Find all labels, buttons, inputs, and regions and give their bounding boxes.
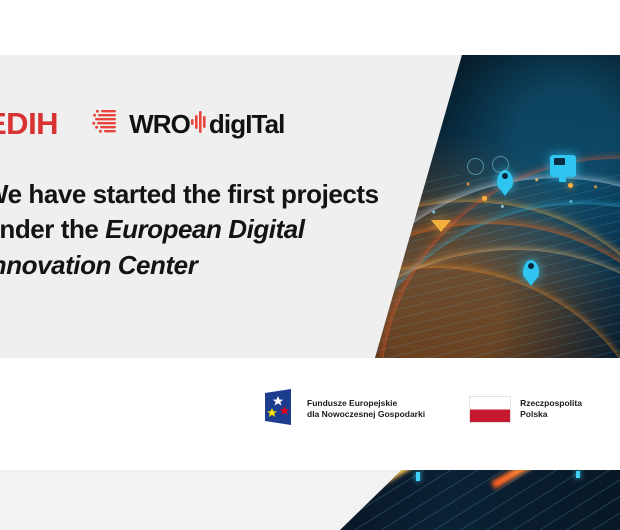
headline-line-2-emphasis: European (105, 214, 221, 244)
edih-wordmark: EDIH (0, 108, 58, 139)
audio-equalizer-icon (191, 110, 208, 138)
article-hero-image[interactable] (375, 55, 620, 358)
map-pin-icon (523, 260, 539, 281)
funding-label-line-1: Fundusze Europejskie (307, 398, 425, 409)
funding-label-eu-funds: Fundusze Europejskie dla Nowoczesnej Gos… (307, 398, 425, 420)
brand-row: EDIH (0, 106, 284, 141)
wro-word-part-1: WRO (129, 111, 190, 137)
map-pin-icon (497, 170, 513, 191)
ring-icon (492, 156, 509, 173)
ring-icon (467, 158, 484, 175)
funding-logo-row: Fundusze Europejskie dla Nowoczesnej Gos… (258, 385, 620, 433)
article-card-body: EDIH (0, 55, 400, 358)
funding-label-line-2: dla Nowoczesnej Gospodarki (307, 409, 425, 420)
funding-item-eu: Dofinansowane przez Unię Europejską (604, 398, 620, 420)
spark-icon (568, 183, 573, 188)
warning-triangle-icon (431, 220, 451, 232)
eu-funds-logo (258, 387, 298, 432)
wro-digital-wordmark: WRO digITal (129, 110, 284, 138)
next-article-hero-image[interactable] (340, 470, 620, 530)
spark-icon (482, 196, 487, 201)
wro-bars-icon (92, 106, 122, 141)
article-card[interactable]: EDIH (0, 55, 620, 358)
next-data-streaks (340, 470, 620, 530)
poland-flag-icon (469, 396, 511, 423)
funding-label-line-1: Rzeczpospolita (520, 398, 582, 409)
wro-word-part-2: digITal (209, 111, 285, 137)
hero-icon-overlay (375, 55, 620, 358)
chip-device-icon (550, 155, 576, 177)
funding-label-line-2: Polska (520, 409, 582, 420)
funding-item-poland: Rzeczpospolita Polska (447, 396, 604, 423)
article-headline[interactable]: We have started the first projects under… (0, 177, 404, 285)
wro-digital-logo: WRO digITal (92, 106, 284, 141)
funding-label-poland: Rzeczpospolita Polska (520, 398, 582, 420)
funding-footer: Fundusze Europejskie dla Nowoczesnej Gos… (0, 358, 620, 470)
next-article-card[interactable] (0, 470, 620, 530)
article-card-page: EDIH (0, 0, 620, 530)
next-accent-dot (416, 472, 420, 481)
next-accent-dot (576, 471, 580, 478)
headline-line-1: We have started the first (0, 179, 274, 209)
funding-item-eu-funds: Fundusze Europejskie dla Nowoczesnej Gos… (258, 387, 447, 432)
